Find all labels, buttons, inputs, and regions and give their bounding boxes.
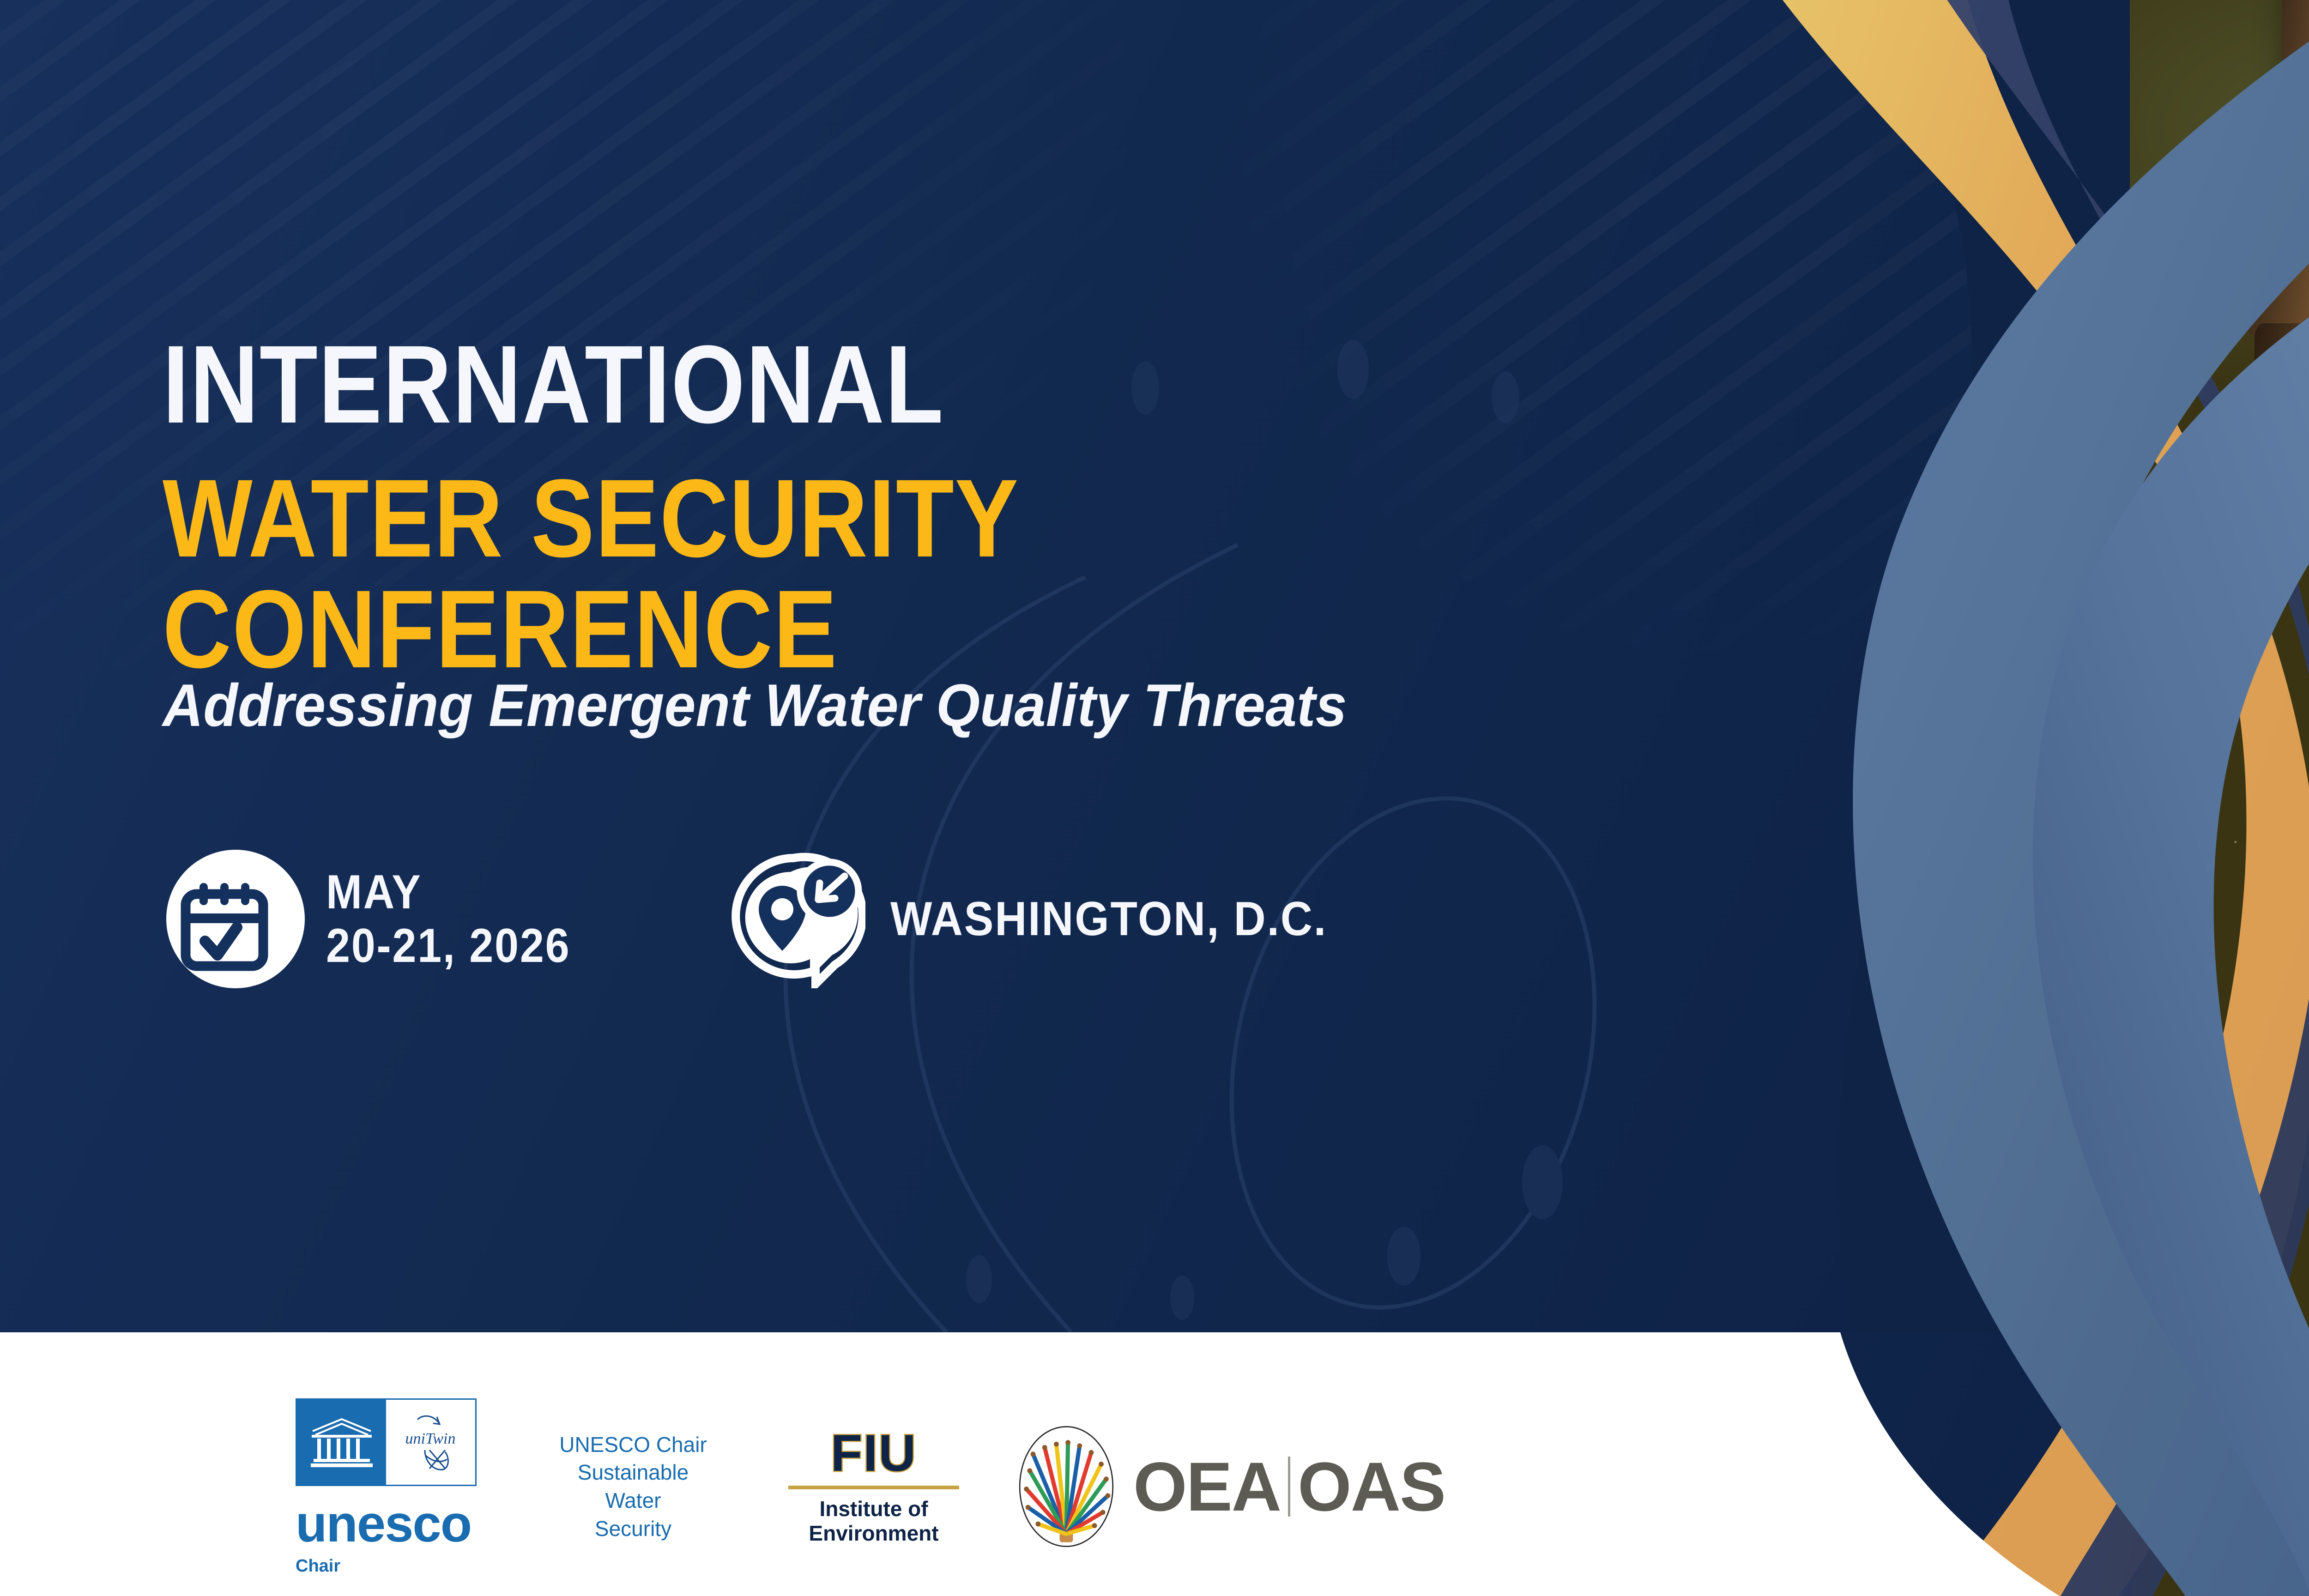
unitwin-block: uniTwin (386, 1400, 475, 1485)
svg-text:uniTwin: uniTwin (405, 1430, 455, 1447)
conference-banner: INTERNATIONAL WATER SECURITY CONFERENCE … (0, 0, 2309, 1596)
event-location-text: WASHINGTON, D.C. (890, 892, 1327, 947)
calendar-check-icon (166, 850, 305, 988)
unesco-chair-subline: Chair (296, 1557, 340, 1575)
event-days: 20-21, 2026 (326, 919, 570, 973)
oas-english-abbrev: OAS (1298, 1452, 1445, 1521)
event-month: MAY (326, 865, 570, 919)
fiu-subtitle: Institute of Environment (809, 1497, 938, 1546)
event-location-item: WASHINGTON, D.C. (727, 850, 1365, 988)
sponsor-logo-bar: uniTwin unesco Chair (0, 1332, 2060, 1596)
chair-text-line-2: Sustainable (534, 1458, 732, 1487)
subtitle: Addressing Emergent Water Quality Threat… (163, 675, 1347, 735)
unesco-temple-icon (307, 1415, 376, 1470)
oas-spanish-abbrev: OEA (1133, 1452, 1281, 1521)
chair-text-line-1: UNESCO Chair (534, 1431, 732, 1459)
fiu-wordmark: FIU (831, 1427, 917, 1479)
unesco-chair-title-text: UNESCO Chair Sustainable Water Security (534, 1431, 732, 1543)
fiu-divider-rule (788, 1486, 959, 1489)
unesco-wordmark: unesco (296, 1498, 471, 1550)
unesco-unitwin-mark: uniTwin (296, 1398, 477, 1486)
title-line-2: WATER SECURITY CONFERENCE (163, 463, 1651, 684)
unesco-temple-block (297, 1400, 386, 1485)
oas-flag-emblem-icon (1015, 1424, 1118, 1549)
oas-wordmark: OEA OAS (1133, 1452, 1445, 1521)
event-date-text: MAY 20-21, 2026 (326, 865, 598, 973)
title-line-1: INTERNATIONAL (163, 329, 944, 440)
oas-divider (1288, 1457, 1290, 1517)
event-date-item: MAY 20-21, 2026 (166, 850, 598, 988)
fiu-subtitle-line-2: Environment (809, 1521, 938, 1546)
fiu-subtitle-line-1: Institute of (809, 1497, 938, 1521)
oas-logo: OEA OAS (1015, 1424, 1445, 1549)
unitwin-globe-icon: uniTwin (401, 1408, 461, 1477)
unesco-chair-logo: uniTwin unesco Chair (296, 1398, 490, 1575)
event-details-row: MAY 20-21, 2026 WASHINGTON, D.C. (166, 850, 1365, 988)
chair-text-line-3: Water (534, 1487, 732, 1515)
fiu-institute-logo: FIU Institute of Environment (777, 1427, 971, 1546)
chair-text-line-4: Security (534, 1515, 732, 1543)
headline-block: INTERNATIONAL WATER SECURITY CONFERENCE … (0, 0, 1893, 1332)
logo-row: uniTwin unesco Chair (296, 1398, 1445, 1575)
map-pin-location-icon (727, 850, 865, 988)
